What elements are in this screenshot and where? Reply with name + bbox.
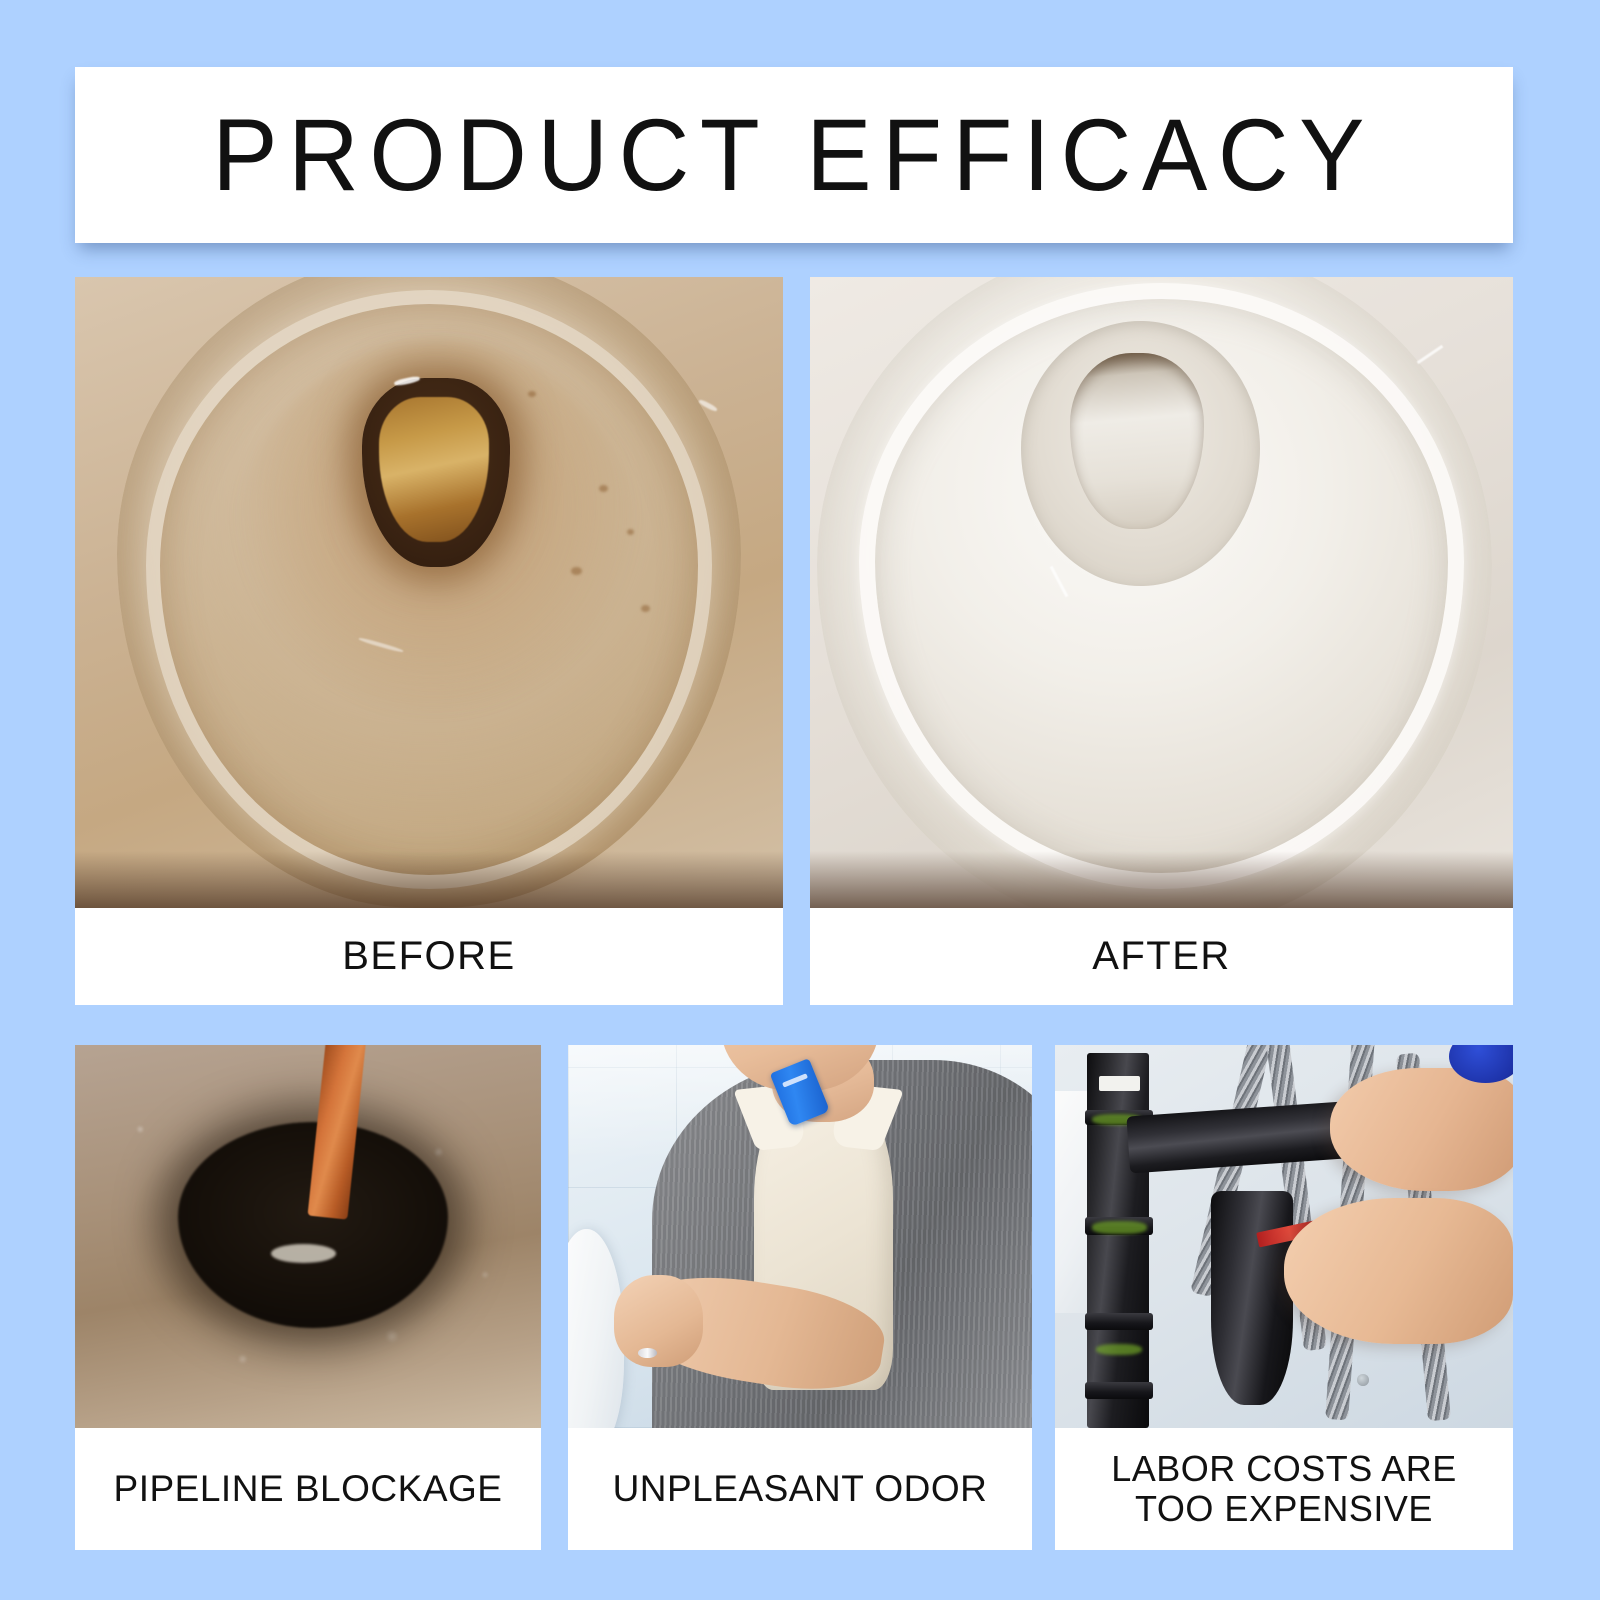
- green-pipe-marking: [1092, 1221, 1147, 1234]
- pipeline-blockage-caption-bar: PIPELINE BLOCKAGE: [75, 1428, 541, 1550]
- clean-toilet-bowl-photo: [810, 277, 1513, 908]
- unpleasant-odor-label: UNPLEASANT ODOR: [613, 1468, 988, 1509]
- vertical-drain-pipe: [1087, 1053, 1149, 1428]
- after-caption-label: AFTER: [1092, 934, 1231, 979]
- before-caption-label: BEFORE: [342, 934, 515, 979]
- pipe-elbow-joint: [1211, 1191, 1293, 1405]
- before-caption-bar: BEFORE: [75, 908, 783, 1005]
- ceramic-hairline: [1416, 345, 1443, 364]
- floor-shadow: [75, 851, 783, 908]
- pipe-label-tag: [1099, 1076, 1140, 1091]
- pipeline-blockage-card: PIPELINE BLOCKAGE: [75, 1045, 541, 1550]
- unpleasant-odor-card: UNPLEASANT ODOR: [568, 1045, 1032, 1550]
- title-banner: PRODUCT EFFICACY: [75, 67, 1513, 243]
- plumber-hand-lower: [1284, 1198, 1513, 1344]
- labor-costs-label: LABOR COSTS ARE TOO EXPENSIVE: [1111, 1449, 1457, 1530]
- stain-spot: [571, 567, 582, 575]
- plumber-hand-upper: [1330, 1068, 1513, 1191]
- finger-ring: [638, 1348, 657, 1358]
- labor-costs-caption-bar: LABOR COSTS ARE TOO EXPENSIVE: [1055, 1428, 1513, 1550]
- pipeline-blockage-label: PIPELINE BLOCKAGE: [114, 1468, 503, 1509]
- before-card: BEFORE: [75, 277, 783, 1005]
- floor-shadow: [810, 851, 1513, 908]
- stained-toilet-bowl-photo: [75, 277, 783, 908]
- pipe-collar: [1085, 1313, 1154, 1330]
- green-pipe-marking: [1096, 1344, 1142, 1355]
- woman-with-nose-clip-photo: [568, 1045, 1032, 1428]
- plunger-in-clogged-drain-photo: [75, 1045, 541, 1428]
- clenched-fist: [614, 1275, 702, 1367]
- page-title: PRODUCT EFFICACY: [213, 104, 1376, 206]
- stain-spot: [528, 391, 536, 397]
- after-card: AFTER: [810, 277, 1513, 1005]
- cabinet-screw: [1357, 1374, 1369, 1385]
- plumber-repairing-pipes-photo: [1055, 1045, 1513, 1428]
- unpleasant-odor-caption-bar: UNPLEASANT ODOR: [568, 1428, 1032, 1550]
- pipe-collar: [1085, 1382, 1154, 1399]
- labor-costs-card: LABOR COSTS ARE TOO EXPENSIVE: [1055, 1045, 1513, 1550]
- after-caption-bar: AFTER: [810, 908, 1513, 1005]
